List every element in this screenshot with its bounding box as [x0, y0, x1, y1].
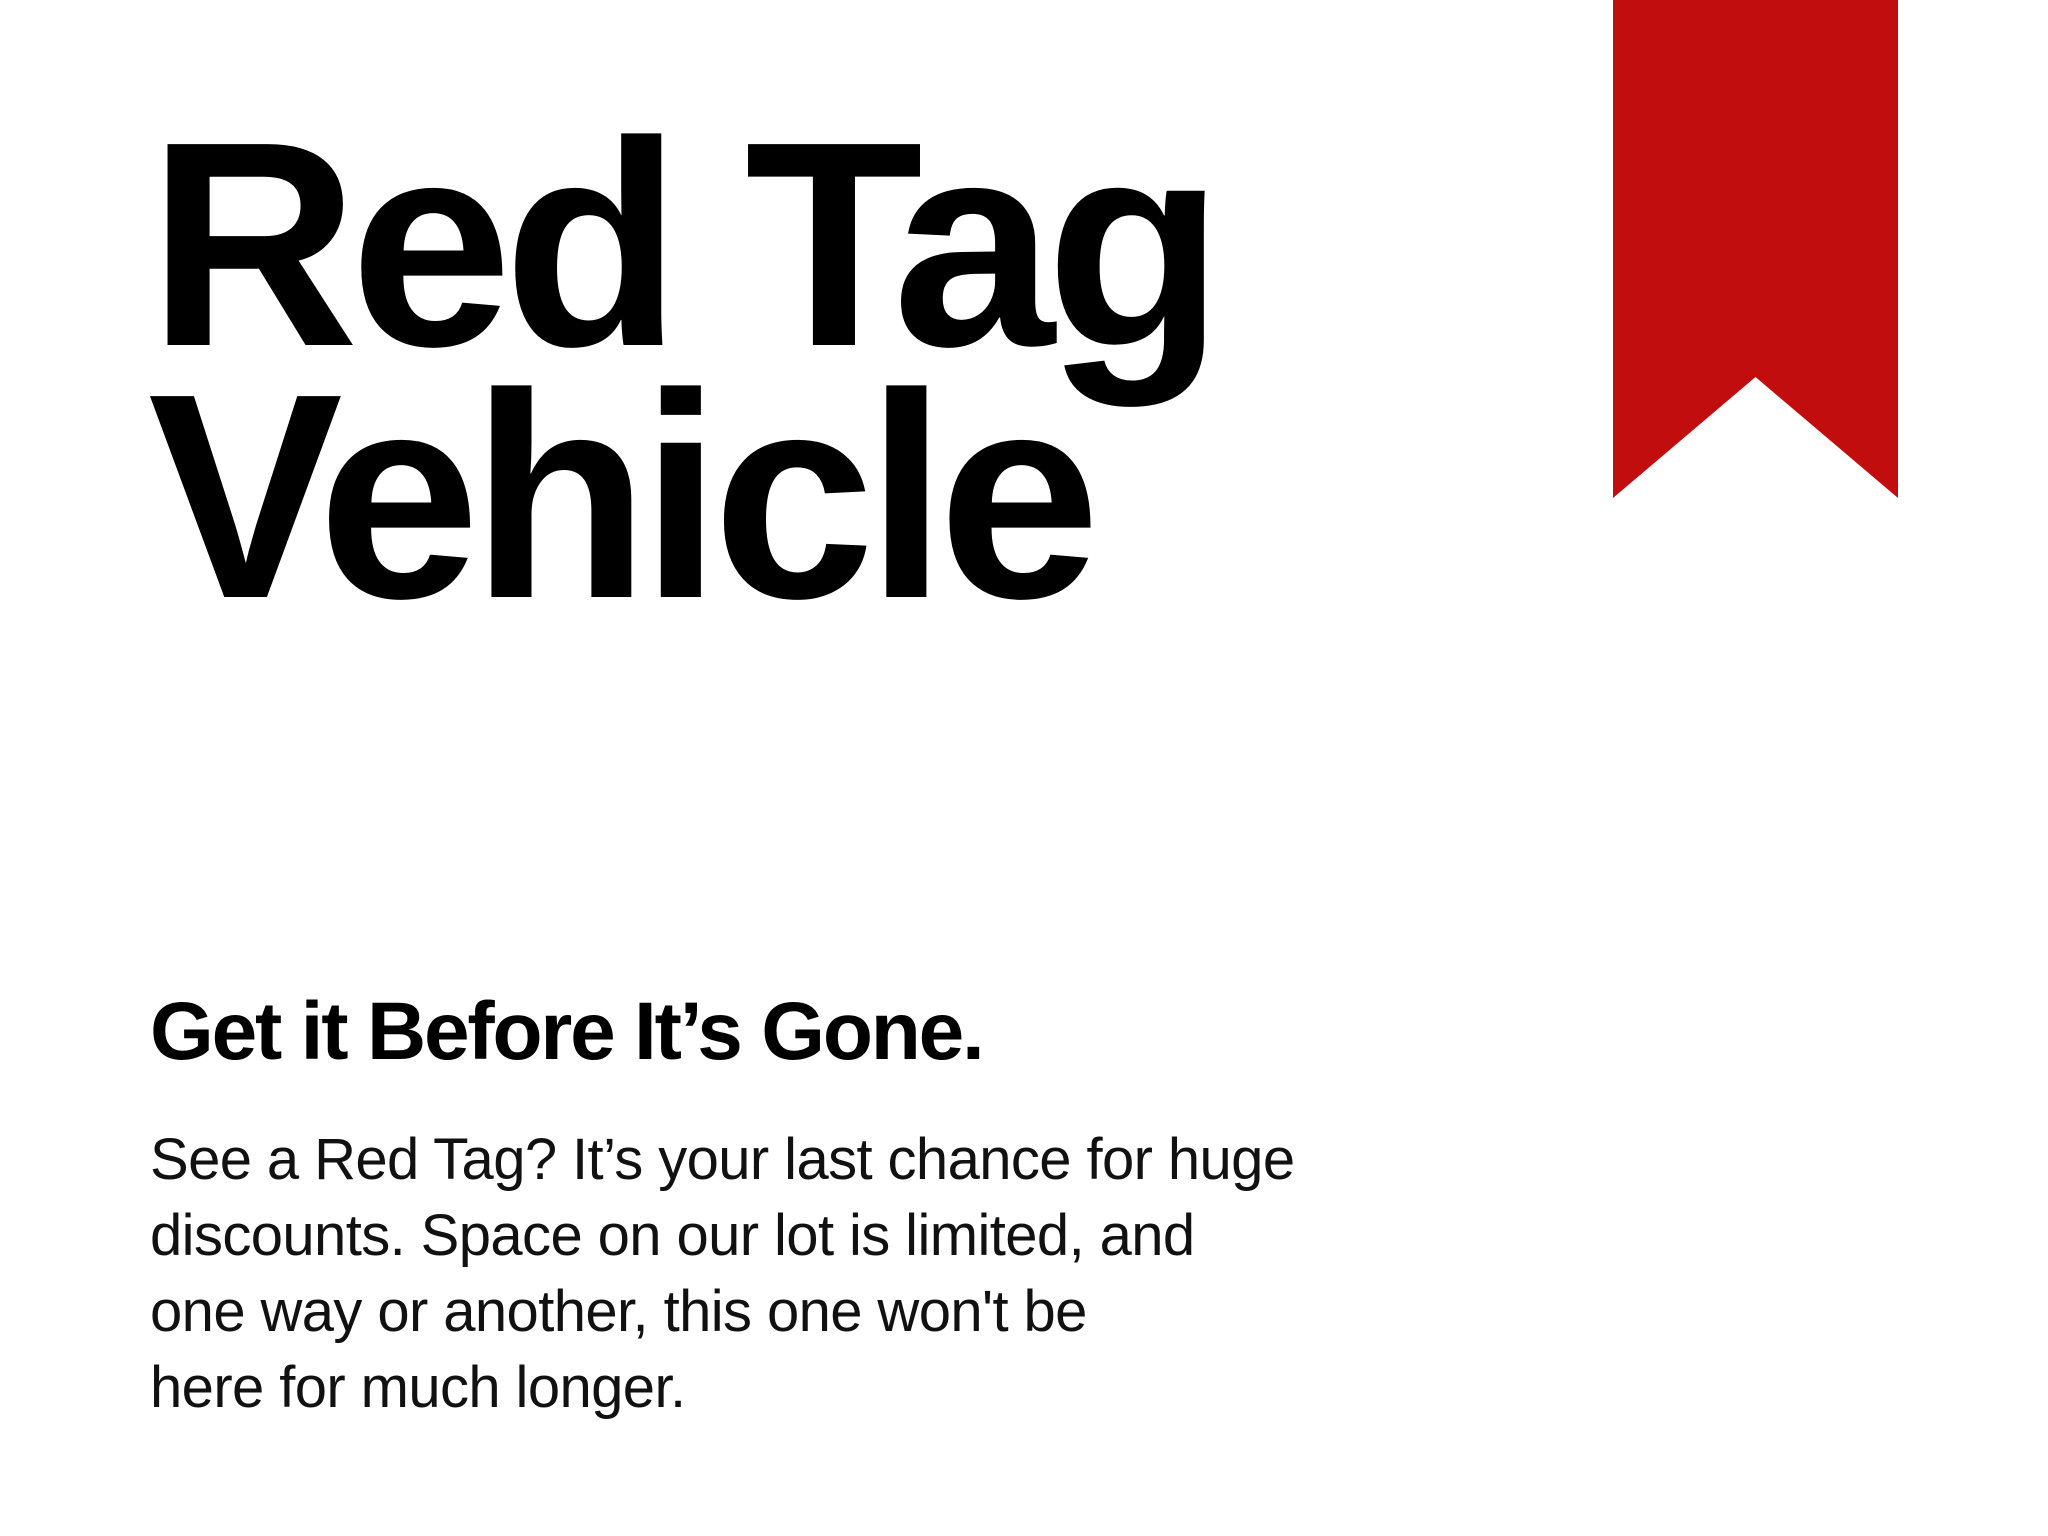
subheading: Get it Before It’s Gone.	[150, 988, 983, 1076]
body-paragraph: See a Red Tag? It’s your last chance for…	[150, 1122, 1330, 1426]
red-tag-ribbon-icon	[1613, 0, 1898, 498]
body-line-1: See a Red Tag? It’s your last chance for…	[150, 1122, 1330, 1198]
headline-line-2: Vehicle	[148, 370, 1468, 622]
body-line-3: one way or another, this one won't be	[150, 1274, 1330, 1350]
body-line-4: here for much longer.	[150, 1350, 1330, 1426]
body-line-2: discounts. Space on our lot is limited, …	[150, 1198, 1330, 1274]
page-title: Red Tag Vehicle	[148, 118, 1468, 622]
red-tag-promo-card: Red Tag Vehicle Get it Before It’s Gone.…	[0, 0, 2048, 1536]
